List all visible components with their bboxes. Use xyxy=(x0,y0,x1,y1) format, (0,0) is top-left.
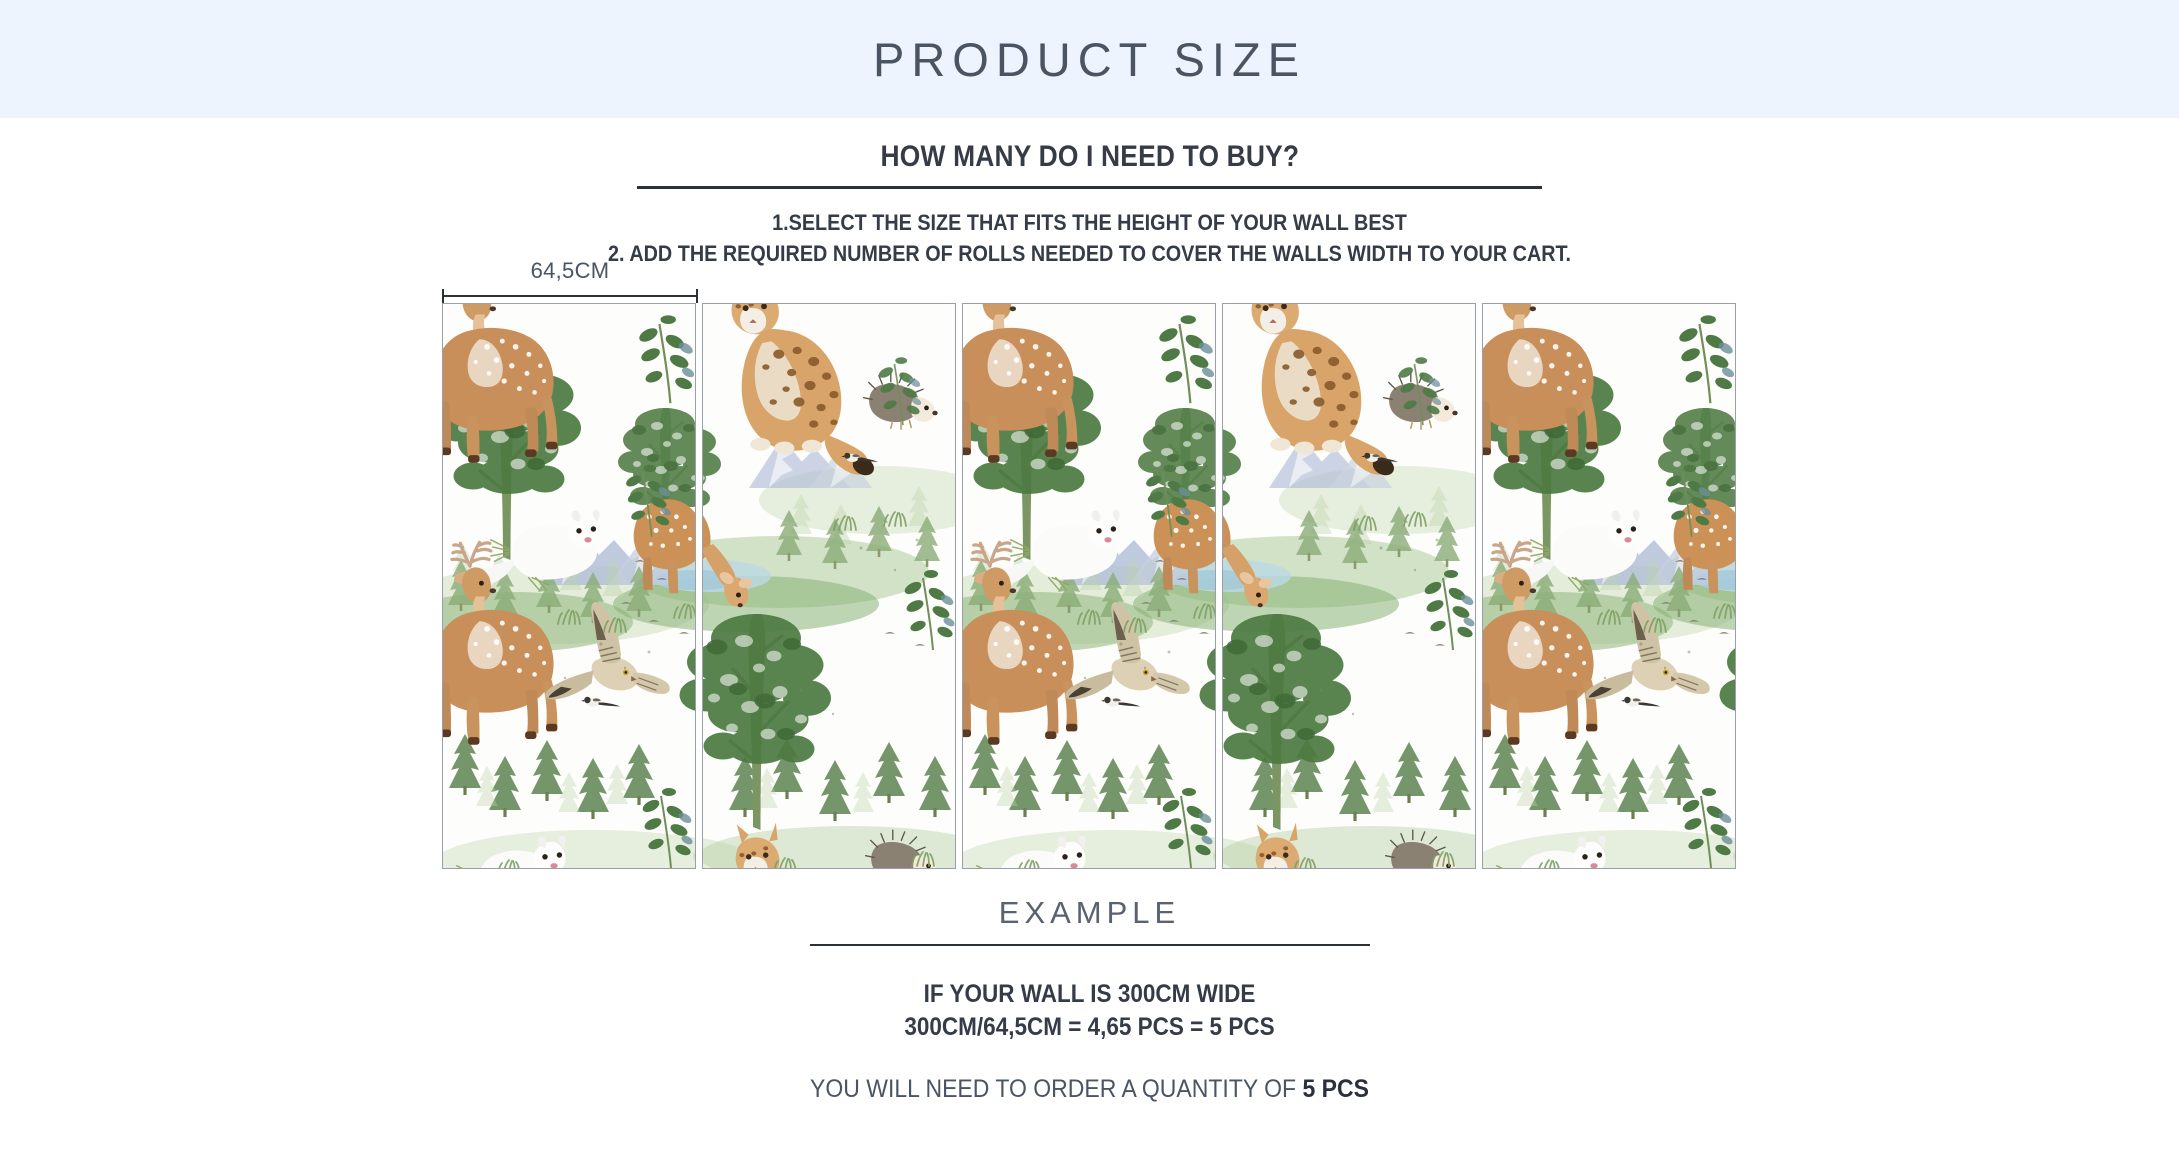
wallpaper-panel[interactable] xyxy=(1222,303,1476,869)
roll-width-label: 64,5CM xyxy=(442,258,698,284)
example-line-2: 300CM/64,5CM = 4,65 PCS = 5 PCS xyxy=(109,1013,2070,1042)
woodland-pattern-art xyxy=(1222,304,1476,869)
woodland-pattern-art xyxy=(963,304,1216,869)
dimension-tick-left xyxy=(442,289,444,303)
example-conclusion-prefix: YOU WILL NEED TO ORDER A QUANTITY OF xyxy=(810,1075,1302,1103)
instruction-step-2: 2. ADD THE REQUIRED NUMBER OF ROLLS NEED… xyxy=(109,238,2070,269)
example-line-1: IF YOUR WALL IS 300CM WIDE xyxy=(109,980,2070,1009)
wallpaper-panel[interactable] xyxy=(962,303,1216,869)
intro-heading: HOW MANY DO I NEED TO BUY? xyxy=(880,140,1299,174)
wallpaper-panel[interactable] xyxy=(702,303,956,869)
woodland-pattern-art xyxy=(702,304,956,869)
intro-divider xyxy=(637,186,1542,189)
page-header: PRODUCT SIZE xyxy=(0,0,2179,118)
wallpaper-panel-strip xyxy=(442,303,1736,869)
instruction-step-1: 1.SELECT THE SIZE THAT FITS THE HEIGHT O… xyxy=(109,207,2070,238)
example-conclusion-value: 5 PCS xyxy=(1302,1075,1368,1103)
wallpaper-panel[interactable] xyxy=(1482,303,1736,869)
dimension-tick-right xyxy=(696,289,698,303)
page-title: PRODUCT SIZE xyxy=(873,32,1306,87)
roll-width-dimension: 64,5CM xyxy=(442,270,698,303)
instruction-list: 1.SELECT THE SIZE THAT FITS THE HEIGHT O… xyxy=(0,207,2179,269)
example-divider xyxy=(810,944,1370,946)
intro-section: HOW MANY DO I NEED TO BUY? 1.SELECT THE … xyxy=(0,118,2179,269)
woodland-pattern-art xyxy=(443,304,696,869)
intro-heading-wrap: HOW MANY DO I NEED TO BUY? xyxy=(0,118,2179,174)
example-title: EXAMPLE xyxy=(0,895,2179,931)
woodland-pattern-art xyxy=(1483,304,1736,869)
example-conclusion: YOU WILL NEED TO ORDER A QUANTITY OF 5 P… xyxy=(87,1075,2092,1104)
wallpaper-panel[interactable] xyxy=(442,303,696,869)
example-section: EXAMPLE IF YOUR WALL IS 300CM WIDE 300CM… xyxy=(0,895,2179,1104)
dimension-line xyxy=(442,295,698,297)
